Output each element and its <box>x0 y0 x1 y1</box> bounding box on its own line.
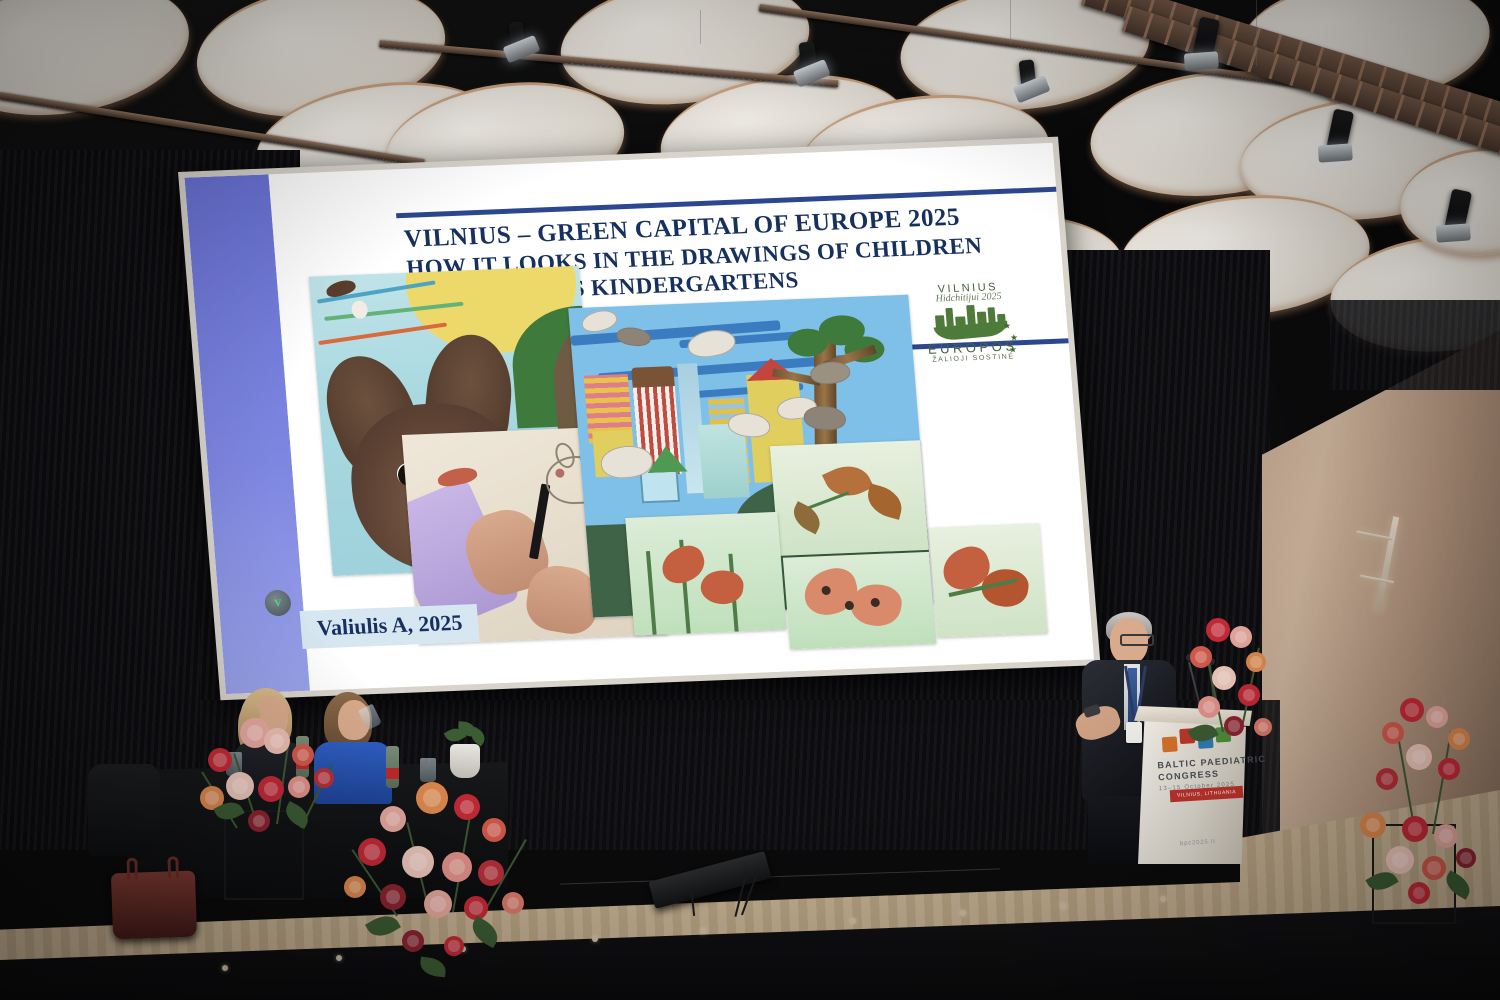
star-icon: ★ <box>1003 321 1012 332</box>
handbag <box>111 871 197 940</box>
star-icon: ★ <box>1009 344 1018 355</box>
projection-screen: VILNIUS – GREEN CAPITAL OF EUROPE 2025 H… <box>178 137 1101 701</box>
plant-leaves <box>444 722 488 748</box>
artwork-butterfly-drawing-2 <box>783 552 936 650</box>
flower-arrangement-podium-left <box>1172 612 1292 782</box>
star-icon: ★ <box>1010 332 1019 343</box>
artwork-butterfly-drawing <box>625 512 786 636</box>
name-badge <box>1126 722 1142 743</box>
artwork-butterfly-green <box>929 523 1048 637</box>
flower-arrangement-right <box>1356 696 1500 926</box>
flower-arrangement-front <box>332 780 562 1000</box>
presentation-slide: VILNIUS – GREEN CAPITAL OF EUROPE 2025 H… <box>184 143 1094 694</box>
slide-citation: Valiulis A, 2025 <box>300 604 480 649</box>
skyline-icon <box>930 303 1011 340</box>
artwork-leaf-drawing <box>770 440 929 556</box>
stage-cable <box>560 868 1000 884</box>
chair <box>88 764 160 856</box>
glasses-icon <box>1120 634 1154 646</box>
wall-upper-right-dark <box>1330 300 1500 390</box>
slide-badge-label: v <box>274 595 282 611</box>
drinking-glass[interactable] <box>420 758 436 782</box>
confidence-monitor <box>650 856 780 918</box>
vilnius-green-capital-logo: VILNIUS Hidchitijui 2025 EUROPOS ŽALIOJI… <box>919 280 1021 364</box>
conference-hall-photo: VILNIUS – GREEN CAPITAL OF EUROPE 2025 H… <box>0 0 1500 1000</box>
plant-vase <box>450 744 480 778</box>
